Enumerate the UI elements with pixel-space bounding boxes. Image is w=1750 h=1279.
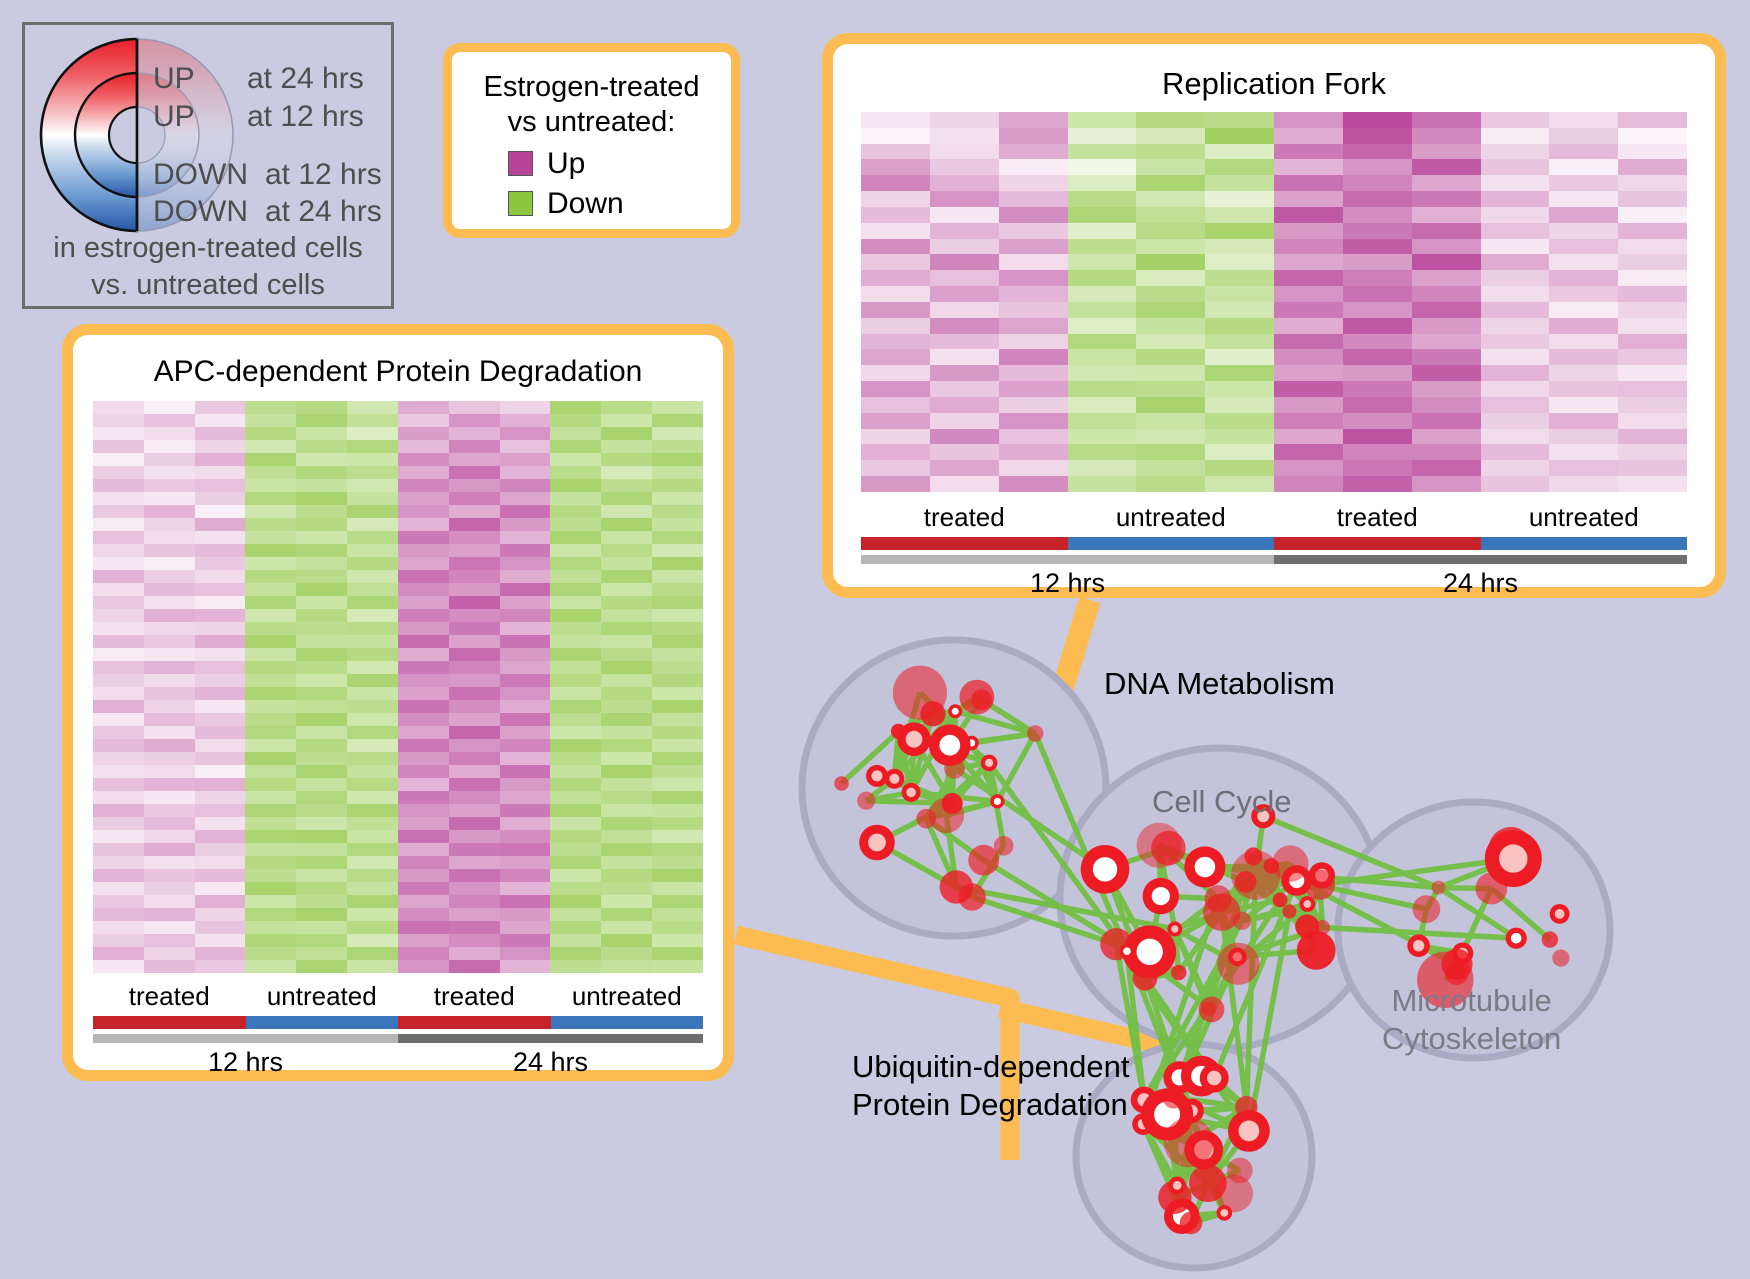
heatmap-cell [1618,381,1687,397]
heatmap-cell [195,960,246,973]
heatmap-cell [245,648,296,661]
heatmap-cell [93,726,144,739]
heatmap-cell [652,856,703,869]
heatmap-cell [398,492,449,505]
heatmap-cell [398,752,449,765]
heatmap-cell [1412,460,1481,476]
heatmap-cell [500,947,551,960]
heatmap-cell [398,414,449,427]
heatmap-cell [1136,334,1205,350]
heatmap-cell [1343,444,1412,460]
heatmap-cell [652,466,703,479]
heatmap-cell [1274,175,1343,191]
heatmap-cell [1136,270,1205,286]
heatmap-cell [449,739,500,752]
heatmap-cell [601,492,652,505]
heatmap-cell [347,518,398,531]
heatmap-cell [93,466,144,479]
heatmap-cell [245,583,296,596]
up-color-swatch [508,151,533,176]
heatmap-cell [195,752,246,765]
heatmap-cell [245,453,296,466]
heatmap-cell [245,817,296,830]
heatmap-cell [1136,365,1205,381]
heatmap-cell [195,778,246,791]
heatmap-cell [1068,302,1137,318]
ring-row-3-label: DOWN [153,195,248,229]
heatmap-cell [500,765,551,778]
heatmap-cell [1343,112,1412,128]
heatmap-cell [245,778,296,791]
heatmap-cell [1549,349,1618,365]
axis-group-label: treated [1274,502,1481,533]
heatmap-cell [93,479,144,492]
heatmap-cell [1481,429,1550,445]
heatmap-cell [347,570,398,583]
heatmap-cell [195,843,246,856]
network-node [902,783,921,802]
heatmap-cell [347,609,398,622]
heatmap-cell [347,830,398,843]
heatmap-cell [195,557,246,570]
heatmap-cell [144,401,195,414]
heatmap-cell [245,843,296,856]
heatmap-cell [1136,254,1205,270]
heatmap-cell [652,414,703,427]
heatmap-cell [93,895,144,908]
label-ubiquitin: Ubiquitin-dependent Protein Degradation [852,1048,1130,1124]
network-node [1299,896,1315,912]
heatmap-cell [93,817,144,830]
heatmap-cell [930,413,999,429]
heatmap-cell [449,505,500,518]
heatmap-cell [1274,444,1343,460]
network-node [981,755,998,772]
heatmap-cell [245,700,296,713]
heatmap-cell [1549,270,1618,286]
heatmap-cell [1274,365,1343,381]
ring-footer-line2: vs. untreated cells [25,267,391,304]
heatmap-cell [195,921,246,934]
heatmap-cell [245,921,296,934]
heatmap-cell [500,609,551,622]
heatmap-cell [398,739,449,752]
heatmap-cell [245,726,296,739]
heatmap-cell [1274,397,1343,413]
network-node [1164,1118,1214,1168]
heatmap-cell [999,334,1068,350]
heatmap-cell [1343,159,1412,175]
heatmap-cell [500,583,551,596]
heatmap-cell [652,843,703,856]
ring-row-0-time: at 24 hrs [247,62,364,96]
heatmap-cell [1549,239,1618,255]
heatmap-cell [195,661,246,674]
heatmap-cell [652,544,703,557]
heatmap-cell [347,505,398,518]
network-node [1167,922,1182,937]
heatmap-cell [999,128,1068,144]
heatmap-cell [930,239,999,255]
heatmap-cell [1136,444,1205,460]
heatmap-cell [1068,349,1137,365]
heatmap-cell [296,700,347,713]
heatmap-cell [1274,334,1343,350]
heatmap-cell [550,609,601,622]
heatmap-cell [1136,112,1205,128]
heatmap-cell [550,700,601,713]
heatmap-cell [1412,191,1481,207]
heatmap-cell [1205,128,1274,144]
network-node [1143,878,1179,914]
heatmap-cell [999,159,1068,175]
heatmap-cell [144,518,195,531]
network-node [944,758,965,779]
axis-group-label: treated [398,981,551,1012]
heatmap-cell [1205,223,1274,239]
heatmap-cell [347,908,398,921]
heatmap-cell [930,429,999,445]
heatmap-cell [930,476,999,492]
heatmap-cell [195,713,246,726]
heatmap-cell [1343,381,1412,397]
heatmap-cell [1412,286,1481,302]
heatmap-cell [347,635,398,648]
heatmap-cell [296,778,347,791]
heatmap-cell [861,460,930,476]
heatmap-cell [1205,429,1274,445]
treatment-bar-segment [1274,537,1481,550]
heatmap-cell [500,908,551,921]
heatmap-cell [1481,112,1550,128]
heatmap-cell [93,687,144,700]
heatmap-cell [296,440,347,453]
heatmap-cell [93,570,144,583]
heatmap-cell [1549,429,1618,445]
heatmap-cell [500,739,551,752]
heatmap-cell [245,908,296,921]
heatmap-cell [449,583,500,596]
heatmap-cell [652,960,703,973]
key-item-up: Up [452,147,731,181]
heatmap-cell [1343,349,1412,365]
heatmap-cell [861,476,930,492]
heatmap-cell [449,895,500,908]
heatmap-cell [550,713,601,726]
heatmap-cell [500,700,551,713]
key-title: Estrogen-treated vs untreated: [452,52,731,141]
heatmap-cell [500,570,551,583]
time-label: 12 hrs [93,1047,398,1078]
heatmap-cell [1481,318,1550,334]
heatmap-cell [930,144,999,160]
heatmap-cell [449,479,500,492]
heatmap-cell [601,531,652,544]
heatmap-cell [500,791,551,804]
heatmap-cell [144,505,195,518]
time-label: 24 hrs [1274,568,1687,599]
heatmap-cell [144,947,195,960]
heatmap-cell [245,869,296,882]
network-node [948,704,962,718]
heatmap-cell [347,739,398,752]
heatmap-cell [1343,286,1412,302]
heatmap-cell [550,596,601,609]
heatmap-cell [1618,302,1687,318]
heatmap-cell [652,947,703,960]
heatmap-cell [652,921,703,934]
heatmap-cell [1618,159,1687,175]
ring-legend-box: UP at 24 hrs UP at 12 hrs DOWN at 12 hrs… [22,22,394,309]
heatmap-cell [930,318,999,334]
network-node [1151,831,1186,866]
heatmap-cell [144,635,195,648]
heatmap-cell [245,518,296,531]
heatmap-cell [930,397,999,413]
heatmap-cell [1618,365,1687,381]
heatmap-cell [398,687,449,700]
label-ubiquitin-line1: Ubiquitin-dependent [852,1048,1130,1086]
heatmap-cell [144,791,195,804]
heatmap-cell [652,557,703,570]
heatmap-cell [500,882,551,895]
heatmap-cell [550,492,601,505]
heatmap-cell [1274,223,1343,239]
heatmap-cell [144,622,195,635]
heatmap-cell [1068,460,1137,476]
heatmap-cell [550,947,601,960]
heatmap-cell [296,908,347,921]
heatmap-cell [1205,397,1274,413]
apc-degradation-panel: APC-dependent Protein Degradation treate… [62,324,734,1081]
axis-group-label: treated [93,981,246,1012]
heatmap-cell [930,334,999,350]
heatmap-cell [861,254,930,270]
heatmap-cell [195,947,246,960]
heatmap-cell [93,882,144,895]
heatmap-cell [245,713,296,726]
heatmap-cell [652,674,703,687]
heatmap-cell [347,843,398,856]
heatmap-cell [999,207,1068,223]
heatmap-cell [1481,128,1550,144]
heatmap-cell [652,505,703,518]
heatmap-cell [652,531,703,544]
heatmap-cell [1136,191,1205,207]
heatmap-cell [1481,270,1550,286]
heatmap-cell [449,648,500,661]
heatmap-cell [500,544,551,557]
heatmap-cell [550,752,601,765]
heatmap-cell [601,622,652,635]
heatmap-cell [1549,476,1618,492]
heatmap-cell [601,674,652,687]
heatmap-cell [550,427,601,440]
heatmap-cell [144,648,195,661]
heatmap-cell [296,427,347,440]
heatmap-cell [296,713,347,726]
heatmap-cell [398,765,449,778]
heatmap-cell [1136,159,1205,175]
network-node [1304,869,1335,900]
heatmap-cell [999,112,1068,128]
heatmap-cell [1068,207,1137,223]
heatmap-cell [449,817,500,830]
heatmap-cell [1343,223,1412,239]
heatmap-cell [449,466,500,479]
heatmap-cell [93,765,144,778]
heatmap-cell [1549,302,1618,318]
heatmap-cell [1481,334,1550,350]
heatmap-cell [1481,254,1550,270]
heatmap-cell [449,492,500,505]
heatmap-cell [999,476,1068,492]
heatmap-cell [601,882,652,895]
heatmap-cell [500,778,551,791]
heatmap-cell [930,349,999,365]
heatmap-cell [930,207,999,223]
heatmap-cell [999,413,1068,429]
heatmap-cell [1136,144,1205,160]
heatmap-cell [652,570,703,583]
heatmap-cell [861,207,930,223]
network-node [1205,885,1232,912]
heatmap-cell [296,921,347,934]
heatmap-cell [652,622,703,635]
heatmap-cell [144,596,195,609]
heatmap-cell [245,466,296,479]
heatmap-cell [449,570,500,583]
heatmap-cell [1549,144,1618,160]
heatmap-cell [93,752,144,765]
heatmap-cell [550,908,601,921]
heatmap-cell [652,440,703,453]
heatmap-cell [930,444,999,460]
heatmap-cell [601,440,652,453]
heatmap-cell [1068,191,1137,207]
network-node [1407,934,1430,957]
heatmap-cell [601,830,652,843]
heatmap-cell [93,869,144,882]
heatmap-cell [1136,349,1205,365]
heatmap-cell [652,908,703,921]
heatmap-cell [601,687,652,700]
ring-row-1-time: at 12 hrs [247,100,364,134]
heatmap-cell [296,492,347,505]
heatmap-cell [1068,144,1137,160]
heatmap-cell [601,466,652,479]
heatmap-cell [652,492,703,505]
heatmap-cell [652,726,703,739]
network-node [1163,1086,1185,1108]
heatmap-cell [999,429,1068,445]
heatmap-cell [601,960,652,973]
heatmap-cell [1481,365,1550,381]
heatmap-cell [347,856,398,869]
heatmap-cell [347,596,398,609]
heatmap-cell [1274,191,1343,207]
heatmap-cell [999,302,1068,318]
heatmap-cell [550,856,601,869]
heatmap-cell [1205,302,1274,318]
heatmap-cell [1481,286,1550,302]
heatmap-cell [347,934,398,947]
heatmap-cell [93,596,144,609]
heatmap-cell [296,726,347,739]
heatmap-cell [93,648,144,661]
heatmap-cell [1481,444,1550,460]
heatmap-cell [1274,159,1343,175]
heatmap-cell [652,804,703,817]
label-ubiquitin-line2: Protein Degradation [852,1086,1130,1124]
heatmap-cell [93,440,144,453]
heatmap-cell [1343,460,1412,476]
heatmap-cell [1481,144,1550,160]
heatmap-cell [930,254,999,270]
heatmap-cell [861,175,930,191]
heatmap-cell [930,223,999,239]
network-node [1171,965,1186,980]
heatmap-cell [1136,460,1205,476]
heatmap-cell [347,726,398,739]
heatmap-cell [93,934,144,947]
heatmap-cell [1549,334,1618,350]
heatmap-cell [1343,254,1412,270]
ring-row-2-label: DOWN [153,158,248,192]
heatmap-cell [398,934,449,947]
heatmap-cell [296,466,347,479]
replication-fork-panel: Replication Fork treateduntreatedtreated… [822,33,1726,598]
heatmap-cell [550,960,601,973]
heatmap-cell [652,700,703,713]
heatmap-cell [398,440,449,453]
heatmap-cell [296,843,347,856]
heatmap-cell [550,804,601,817]
heatmap-cell [398,713,449,726]
heatmap-cell [550,895,601,908]
heatmap-cell [500,830,551,843]
heatmap-cell [93,700,144,713]
heatmap-cell [144,882,195,895]
heatmap-cell [550,466,601,479]
heatmap-cell [1412,159,1481,175]
heatmap-cell [550,726,601,739]
heatmap-cell [550,440,601,453]
heatmap-cell [1274,349,1343,365]
heatmap-cell [1136,239,1205,255]
heatmap-cell [652,583,703,596]
heatmap-cell [601,765,652,778]
heatmap-cell [245,687,296,700]
heatmap-cell [1412,302,1481,318]
heatmap-cell [144,934,195,947]
heatmap-cell [652,817,703,830]
heatmap-cell [1618,191,1687,207]
heatmap-cell [449,622,500,635]
heatmap-cell [1412,365,1481,381]
heatmap-cell [601,479,652,492]
heatmap-cell [1274,207,1343,223]
heatmap-cell [93,609,144,622]
heatmap-cell [652,765,703,778]
time-bar-24hrs [1274,555,1687,564]
key-title-line2: vs untreated: [452,105,731,140]
heatmap-cell [500,648,551,661]
heatmap-cell [1549,365,1618,381]
axis-group-label: treated [861,502,1068,533]
heatmap-cell [93,544,144,557]
heatmap-cell [1068,476,1137,492]
